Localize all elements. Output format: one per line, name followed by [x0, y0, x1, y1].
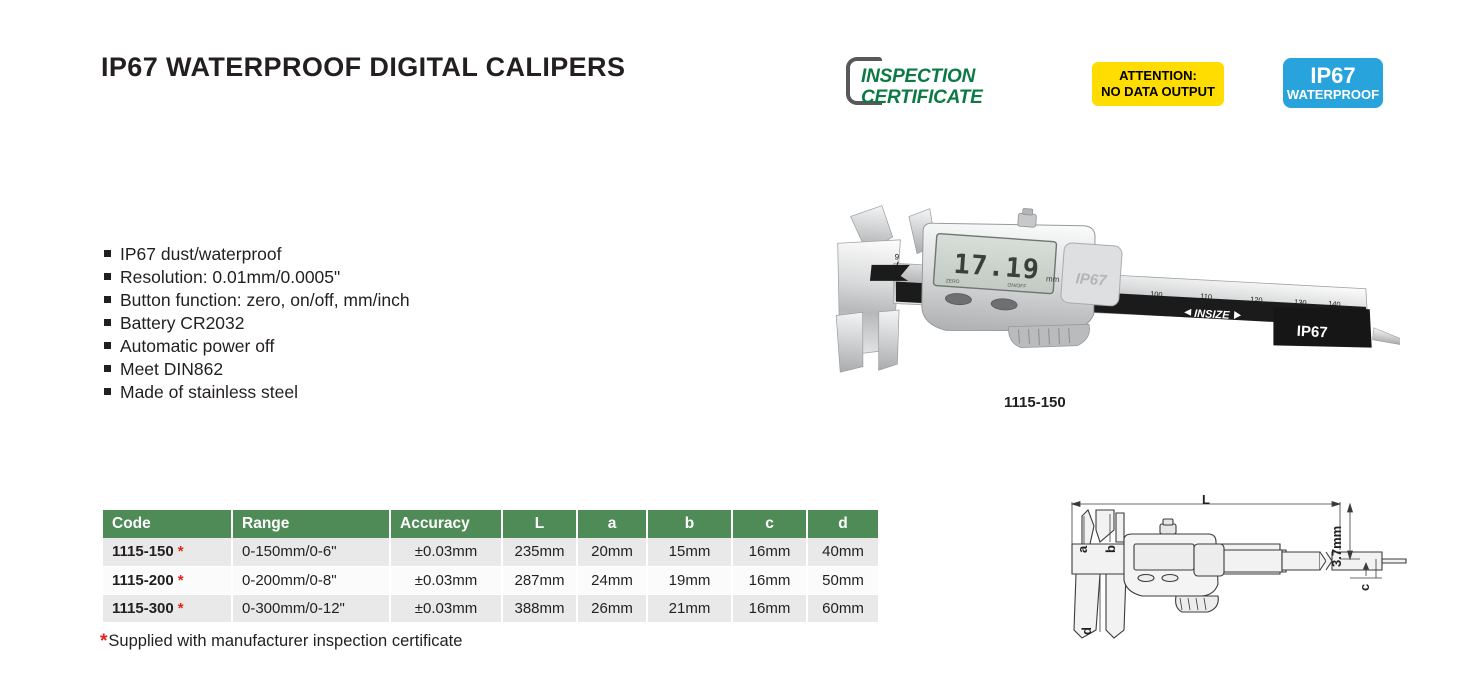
product-caption: 1115-150: [1004, 394, 1066, 411]
dim-label-thickness: 3.7mm: [1329, 526, 1344, 567]
column-header-d: d: [807, 510, 878, 538]
table-row: 1115-200* 0-200mm/0-8" ±0.03mm 287mm 24m…: [103, 566, 878, 594]
feature-item: Battery CR2032: [104, 312, 410, 335]
column-header-accuracy: Accuracy: [390, 510, 502, 538]
feature-item-label: Button function: zero, on/off, mm/inch: [120, 289, 410, 312]
cell-b: 19mm: [647, 566, 732, 594]
cell-code: 1115-150*: [103, 538, 232, 566]
dim-label-a: a: [1075, 546, 1090, 553]
svg-text:17.19: 17.19: [953, 249, 1041, 286]
attention-badge-line-2: NO DATA OUTPUT: [1101, 84, 1215, 100]
feature-item: Made of stainless steel: [104, 381, 410, 404]
square-bullet-icon: [104, 319, 111, 326]
svg-text:140: 140: [1328, 299, 1341, 309]
certificate-asterisk: *: [178, 543, 184, 560]
square-bullet-icon: [104, 296, 111, 303]
dim-label-b: b: [1103, 545, 1118, 553]
specifications-table: Code Range Accuracy L a b c d 1115-150* …: [103, 510, 878, 623]
square-bullet-icon: [104, 342, 111, 349]
cell-range: 0-300mm/0-12": [232, 594, 390, 622]
code-value: 1115-200: [112, 572, 174, 589]
footnote-text: Supplied with manufacturer inspection ce…: [108, 632, 462, 650]
cell-accuracy: ±0.03mm: [390, 594, 502, 622]
svg-text:IP67: IP67: [1296, 323, 1328, 342]
inspection-certificate-logo: INSPECTION CERTIFICATE: [846, 55, 1036, 115]
cell-range: 0-150mm/0-6": [232, 538, 390, 566]
cell-b: 15mm: [647, 538, 732, 566]
cell-d: 40mm: [807, 538, 878, 566]
svg-text:130: 130: [1294, 297, 1307, 307]
feature-item-label: Battery CR2032: [120, 312, 245, 335]
column-header-code: Code: [103, 510, 232, 538]
table-row: 1115-150* 0-150mm/0-6" ±0.03mm 235mm 20m…: [103, 538, 878, 566]
table-header-row: Code Range Accuracy L a b c d: [103, 510, 878, 538]
feature-item-label: IP67 dust/waterproof: [120, 243, 281, 266]
cell-l: 235mm: [502, 538, 577, 566]
svg-text:INSIZE: INSIZE: [1194, 308, 1231, 322]
cell-d: 60mm: [807, 594, 878, 622]
svg-text:IP67: IP67: [1075, 270, 1108, 289]
column-header-range: Range: [232, 510, 390, 538]
feature-item-label: Meet DIN862: [120, 358, 223, 381]
attention-badge-line-1: ATTENTION:: [1119, 68, 1197, 84]
ip67-waterproof-badge: IP67 WATERPROOF: [1283, 58, 1383, 108]
dim-label-L: L: [1202, 492, 1210, 507]
feature-item: Resolution: 0.01mm/0.0005": [104, 266, 410, 289]
cell-a: 24mm: [577, 566, 647, 594]
certificate-line-1: INSPECTION: [861, 66, 983, 87]
cell-c: 16mm: [732, 594, 807, 622]
dimension-drawing: L a b 3.7mm c d: [1030, 480, 1430, 640]
cell-code: 1115-200*: [103, 566, 232, 594]
cell-l: 287mm: [502, 566, 577, 594]
certificate-asterisk: *: [178, 572, 184, 589]
cell-code: 1115-300*: [103, 594, 232, 622]
cell-accuracy: ±0.03mm: [390, 538, 502, 566]
svg-text:mm: mm: [1046, 274, 1060, 284]
cell-d: 50mm: [807, 566, 878, 594]
table-footnote: *Supplied with manufacturer inspection c…: [100, 631, 462, 653]
code-value: 1115-150: [112, 543, 174, 560]
dim-label-c: c: [1357, 584, 1372, 591]
code-value: 1115-300: [112, 600, 174, 617]
svg-text:110: 110: [1200, 291, 1213, 301]
square-bullet-icon: [104, 388, 111, 395]
product-photo: 9 10 90 100 110 120 130 140 INSIZE: [800, 198, 1400, 388]
column-header-b: b: [647, 510, 732, 538]
feature-item-label: Automatic power off: [120, 335, 274, 358]
cell-range: 0-200mm/0-8": [232, 566, 390, 594]
feature-item: Meet DIN862: [104, 358, 410, 381]
product-catalog-page: IP67 WATERPROOF DIGITAL CALIPERS INSPECT…: [0, 0, 1483, 700]
cell-accuracy: ±0.03mm: [390, 566, 502, 594]
svg-text:100: 100: [1150, 289, 1163, 299]
certificate-line-2: CERTIFICATE: [861, 87, 983, 108]
feature-item-label: Made of stainless steel: [120, 381, 298, 404]
feature-item: IP67 dust/waterproof: [104, 243, 410, 266]
dim-label-d: d: [1079, 627, 1094, 635]
cell-c: 16mm: [732, 566, 807, 594]
svg-text:ZERO: ZERO: [945, 278, 959, 285]
feature-list: IP67 dust/waterproof Resolution: 0.01mm/…: [104, 243, 410, 404]
cell-l: 388mm: [502, 594, 577, 622]
cell-c: 16mm: [732, 538, 807, 566]
square-bullet-icon: [104, 250, 111, 257]
footnote-asterisk: *: [100, 631, 107, 652]
square-bullet-icon: [104, 273, 111, 280]
column-header-a: a: [577, 510, 647, 538]
svg-text:120: 120: [1250, 295, 1263, 305]
certificate-logo-text: INSPECTION CERTIFICATE: [861, 66, 983, 108]
column-header-c: c: [732, 510, 807, 538]
attention-badge: ATTENTION: NO DATA OUTPUT: [1092, 62, 1224, 106]
ip67-badge-line-2: WATERPROOF: [1287, 87, 1379, 102]
certificate-asterisk: *: [178, 600, 184, 617]
feature-item: Automatic power off: [104, 335, 410, 358]
feature-item-label: Resolution: 0.01mm/0.0005": [120, 266, 340, 289]
caliper-line-drawing: [1030, 480, 1430, 640]
square-bullet-icon: [104, 365, 111, 372]
ip67-badge-line-1: IP67: [1310, 64, 1355, 87]
cell-a: 20mm: [577, 538, 647, 566]
column-header-l: L: [502, 510, 577, 538]
table-row: 1115-300* 0-300mm/0-12" ±0.03mm 388mm 26…: [103, 594, 878, 622]
cell-a: 26mm: [577, 594, 647, 622]
page-title: IP67 WATERPROOF DIGITAL CALIPERS: [101, 52, 625, 83]
caliper-illustration: 9 10 90 100 110 120 130 140 INSIZE: [800, 198, 1400, 388]
feature-item: Button function: zero, on/off, mm/inch: [104, 289, 410, 312]
cell-b: 21mm: [647, 594, 732, 622]
